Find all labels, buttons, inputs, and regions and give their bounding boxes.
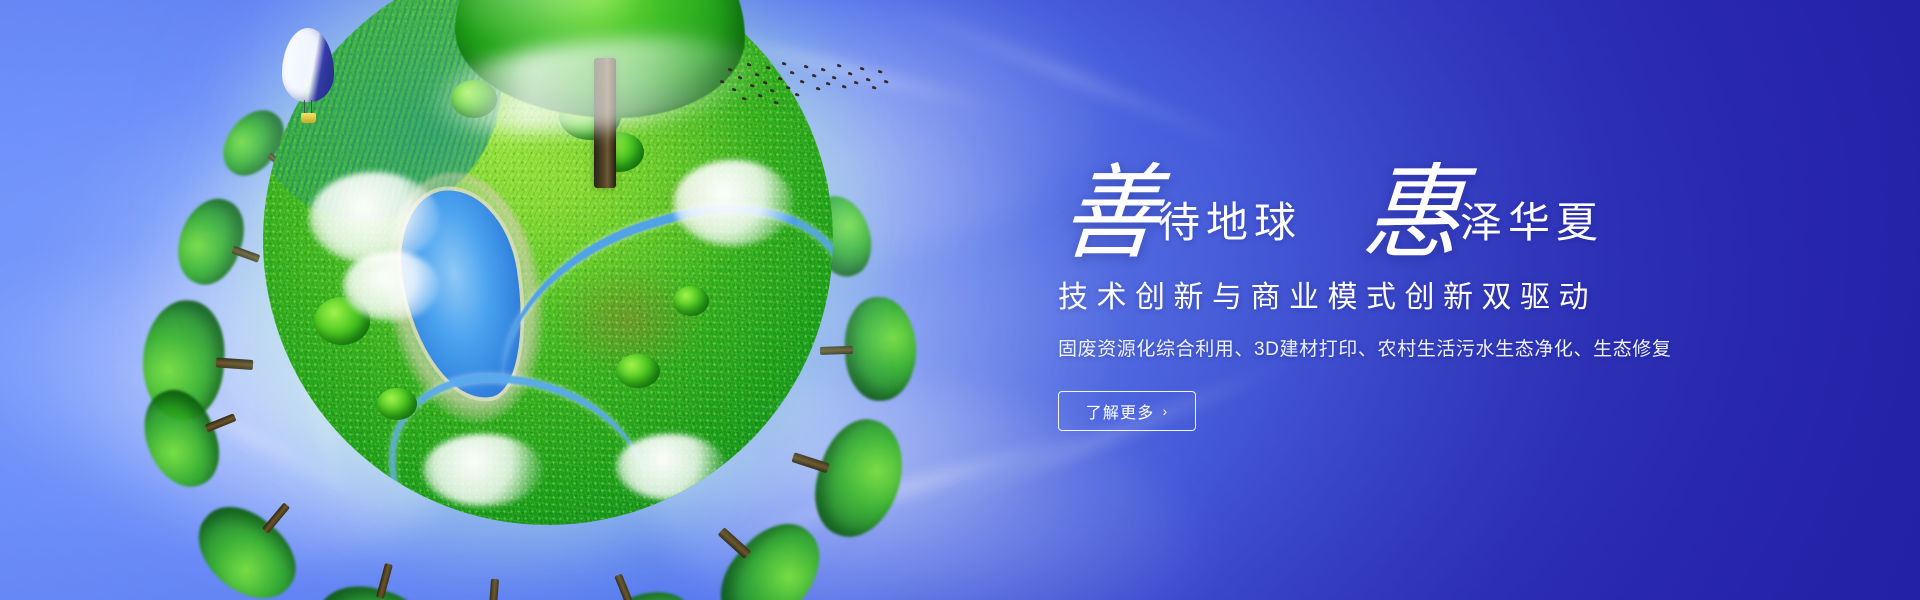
headline-tail-chars-2: 泽华夏 (1452, 189, 1604, 262)
surface-cloud (343, 251, 439, 321)
page-title: 善 待地球 惠 泽华夏 (1058, 150, 1698, 262)
surface-cloud (673, 160, 793, 246)
balloon-ropes (304, 100, 312, 114)
bird-flock (716, 56, 891, 111)
hot-air-balloon (282, 28, 338, 132)
bush-clump (377, 388, 417, 420)
hero-banner: 善 待地球 惠 泽华夏 技术创新与商业模式创新双驱动 固废资源化综合利用、3D建… (0, 0, 1920, 600)
bush-clump (673, 286, 709, 316)
balloon-basket (301, 113, 316, 123)
headline-tail-chars-1: 待地球 (1150, 189, 1302, 262)
headline-lead-char-2: 惠 (1360, 167, 1466, 262)
chevron-right-icon: › (1162, 403, 1168, 419)
hero-content: 善 待地球 惠 泽华夏 技术创新与商业模式创新双驱动 固废资源化综合利用、3D建… (1058, 150, 1698, 431)
headline-lead-char-1: 善 (1058, 167, 1164, 262)
hero-description: 固废资源化综合利用、3D建材打印、农村生活污水生态净化、生态修复 (1058, 334, 1698, 361)
hero-subtitle: 技术创新与商业模式创新双驱动 (1058, 272, 1698, 316)
learn-more-button[interactable]: 了解更多 › (1058, 391, 1196, 431)
surface-cloud (423, 434, 543, 506)
balloon-envelope (282, 28, 334, 102)
learn-more-label: 了解更多 (1086, 399, 1155, 423)
surface-cloud (309, 172, 439, 264)
rim-tree (818, 296, 918, 403)
surface-cloud (616, 434, 726, 500)
